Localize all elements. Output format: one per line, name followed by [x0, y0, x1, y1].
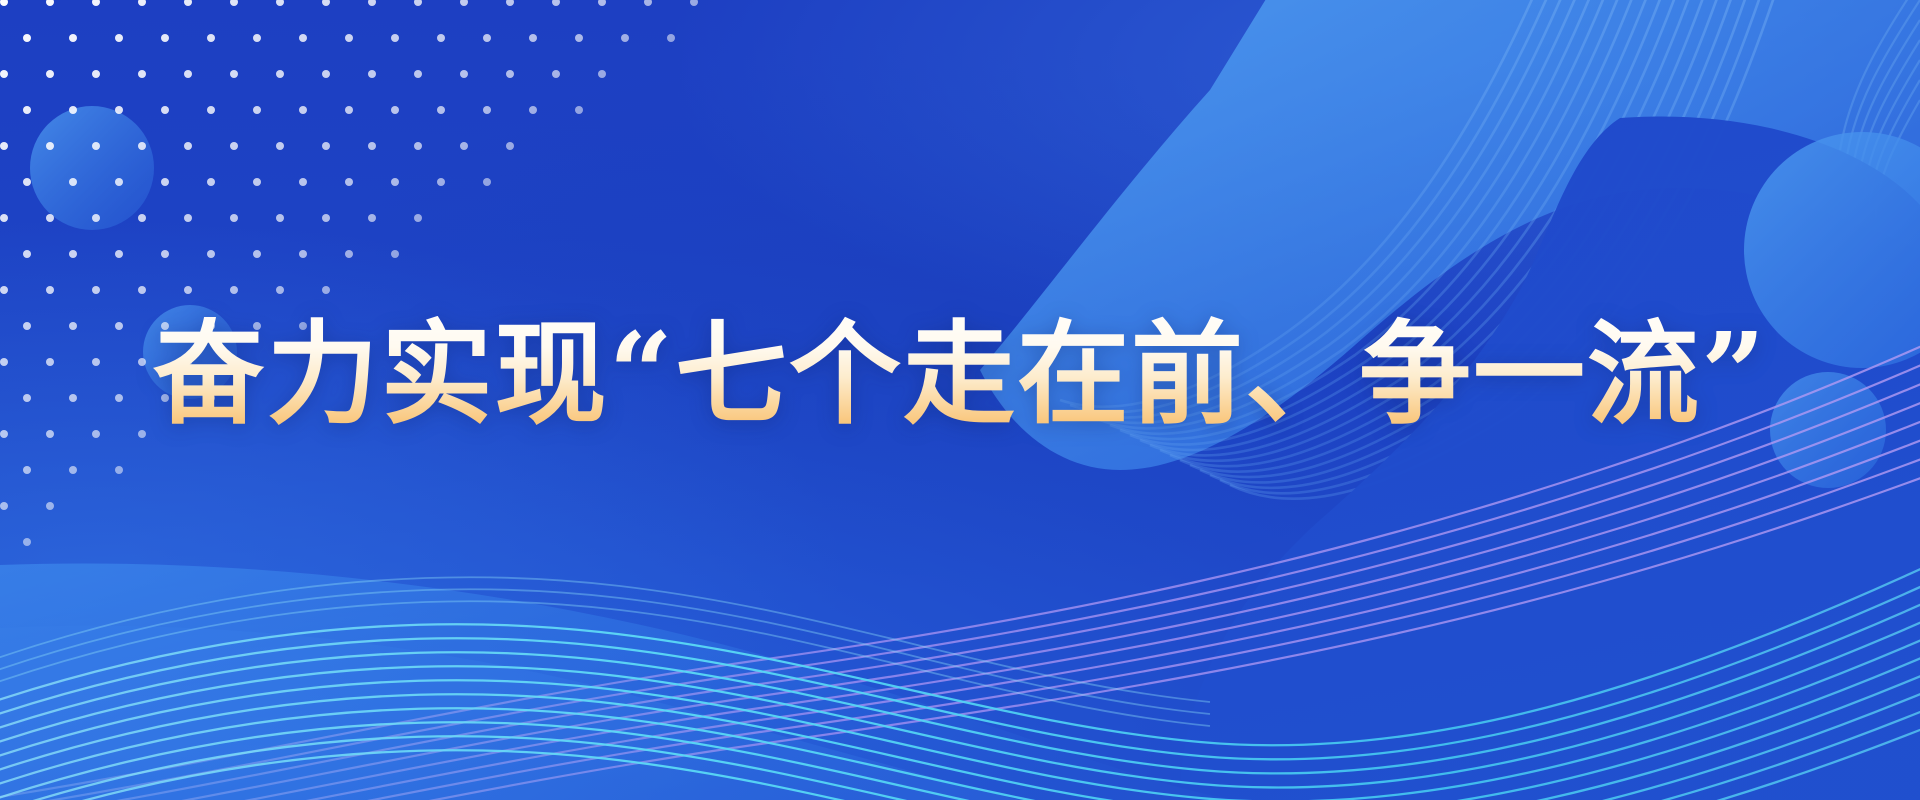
dot-grid-top-left: [0, 0, 698, 546]
circle-right-small: [1770, 372, 1886, 488]
circle-left-small: [143, 305, 237, 399]
banner-canvas: 奋力实现“七个走在前、争一流”: [0, 0, 1920, 800]
decorative-shapes-layer: [0, 0, 1920, 800]
circle-left-large: [30, 106, 154, 230]
